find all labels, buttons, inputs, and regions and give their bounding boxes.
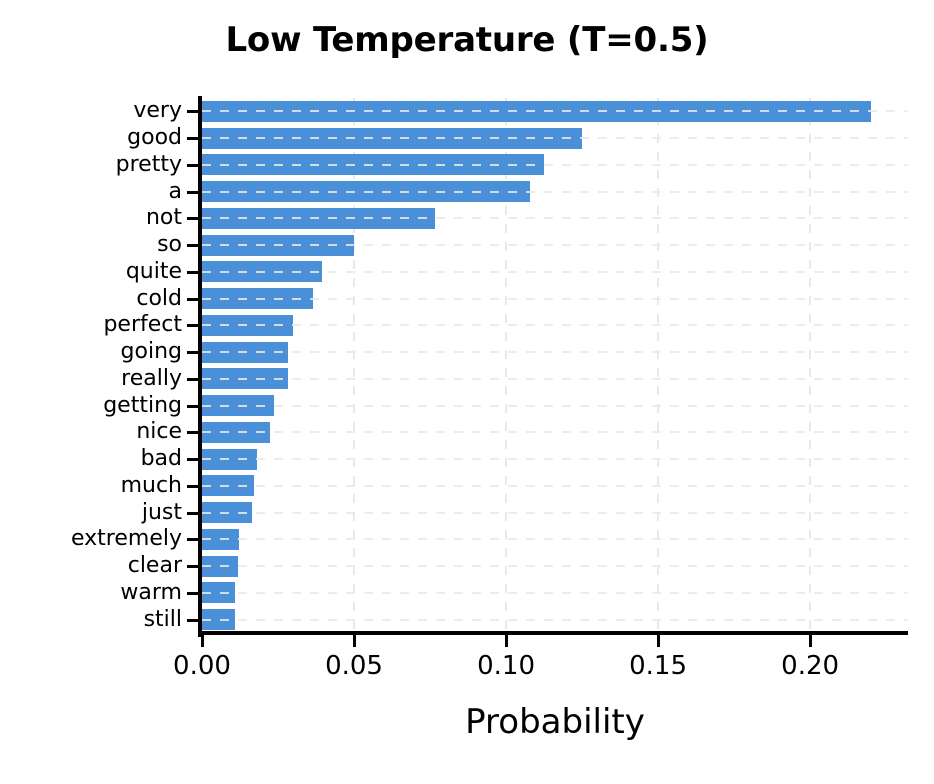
y-tick-label-really: really: [0, 368, 182, 390]
y-tick-mark: [187, 324, 200, 327]
y-tick-label-a: a: [0, 181, 182, 203]
gridlines-overlay: [202, 98, 908, 633]
x-tick-label-0.05: 0.05: [325, 651, 383, 681]
y-tick-mark: [187, 619, 200, 622]
y-tick-mark: [187, 431, 200, 434]
x-tick-label-0.00: 0.00: [173, 651, 231, 681]
y-tick-label-still: still: [0, 609, 182, 631]
y-tick-mark: [187, 271, 200, 274]
gridline-horizontal: [202, 324, 908, 326]
y-tick-label-extremely: extremely: [0, 528, 182, 550]
plot-area: [202, 98, 908, 633]
x-tick-label-0.20: 0.20: [781, 651, 839, 681]
y-tick-label-clear: clear: [0, 555, 182, 577]
gridline-horizontal: [202, 244, 908, 246]
y-axis-spine: [198, 96, 202, 637]
y-tick-label-cold: cold: [0, 288, 182, 310]
gridline-horizontal: [202, 619, 908, 621]
gridline-horizontal: [202, 431, 908, 433]
gridline-horizontal: [202, 164, 908, 166]
y-tick-mark: [187, 217, 200, 220]
x-axis-label: Probability: [202, 702, 908, 742]
gridline-horizontal: [202, 217, 908, 219]
y-tick-label-warm: warm: [0, 582, 182, 604]
y-tick-mark: [187, 485, 200, 488]
gridline-horizontal: [202, 137, 908, 139]
y-tick-mark: [187, 512, 200, 515]
gridline-horizontal: [202, 538, 908, 540]
y-tick-mark: [187, 538, 200, 541]
y-tick-label-so: so: [0, 234, 182, 256]
gridline-horizontal: [202, 458, 908, 460]
gridline-horizontal: [202, 351, 908, 353]
y-tick-label-bad: bad: [0, 448, 182, 470]
y-tick-mark: [187, 378, 200, 381]
y-tick-label-perfect: perfect: [0, 314, 182, 336]
x-tick-label-0.15: 0.15: [629, 651, 687, 681]
y-tick-label-just: just: [0, 502, 182, 524]
y-tick-mark: [187, 458, 200, 461]
y-tick-mark: [187, 298, 200, 301]
y-tick-label-nice: nice: [0, 421, 182, 443]
y-tick-label-not: not: [0, 207, 182, 229]
y-tick-mark: [187, 405, 200, 408]
x-axis-spine: [198, 631, 908, 635]
y-tick-label-very: very: [0, 100, 182, 122]
y-axis-tick-labels: verygoodprettyanotsoquitecoldperfectgoin…: [0, 0, 182, 784]
y-tick-mark: [187, 110, 200, 113]
y-tick-mark: [187, 351, 200, 354]
gridline-horizontal: [202, 592, 908, 594]
gridline-horizontal: [202, 378, 908, 380]
y-tick-label-good: good: [0, 127, 182, 149]
x-tick-mark: [657, 634, 660, 647]
y-tick-mark: [187, 592, 200, 595]
x-tick-mark: [353, 634, 356, 647]
x-tick-label-0.10: 0.10: [477, 651, 535, 681]
y-tick-label-much: much: [0, 475, 182, 497]
y-tick-mark: [187, 565, 200, 568]
gridline-horizontal: [202, 512, 908, 514]
x-tick-mark: [505, 634, 508, 647]
gridline-horizontal: [202, 405, 908, 407]
y-tick-label-quite: quite: [0, 261, 182, 283]
x-tick-mark: [809, 634, 812, 647]
y-tick-mark: [187, 137, 200, 140]
y-tick-mark: [187, 244, 200, 247]
y-tick-label-getting: getting: [0, 395, 182, 417]
gridline-horizontal: [202, 271, 908, 273]
gridline-horizontal: [202, 298, 908, 300]
y-tick-label-pretty: pretty: [0, 154, 182, 176]
y-tick-mark: [187, 191, 200, 194]
gridline-horizontal: [202, 565, 908, 567]
figure-canvas: Low Temperature (T=0.5) verygoodprettyan…: [0, 0, 934, 784]
x-tick-mark: [201, 634, 204, 647]
gridline-horizontal: [202, 485, 908, 487]
gridline-horizontal: [202, 110, 908, 112]
y-tick-mark: [187, 164, 200, 167]
gridline-horizontal: [202, 191, 908, 193]
y-tick-label-going: going: [0, 341, 182, 363]
